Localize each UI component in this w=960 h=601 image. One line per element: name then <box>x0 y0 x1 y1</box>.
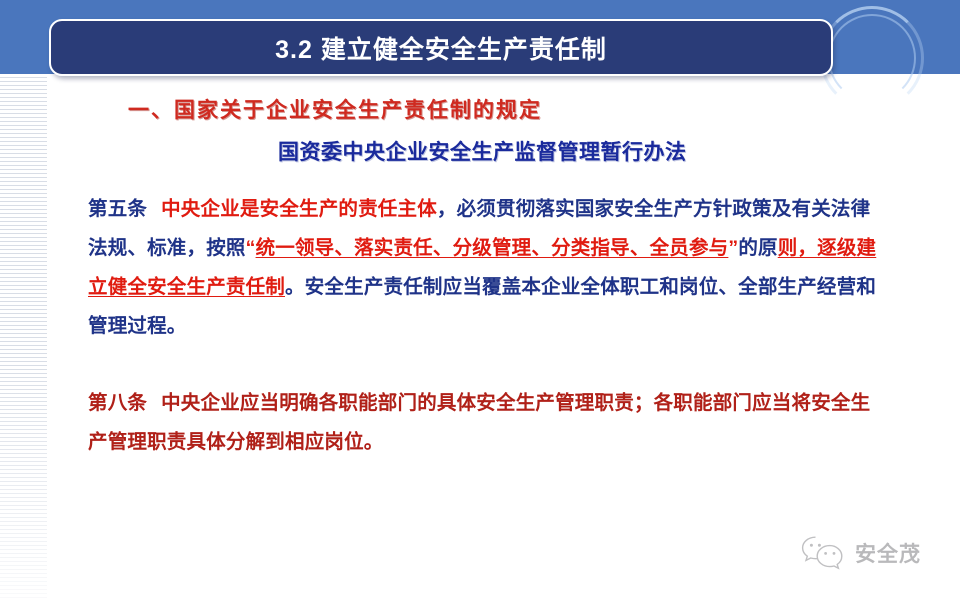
text-run: 统一领导、落实责任、分级管理、分类指导、全员参与 <box>256 237 729 259</box>
left-stripe-fade-overlay <box>0 74 47 601</box>
text-run: 第五条 <box>88 198 147 220</box>
watermark-label: 安全茂 <box>855 538 921 568</box>
presentation-slide: 3.2 建立健全安全生产责任制 一、国家关于企业安全生产责任制的规定 国资委中央… <box>0 0 960 601</box>
watermark: 安全茂 <box>800 534 921 572</box>
paragraph-article-5: 第五条中央企业是安全生产的责任主体，必须贯彻落实国家安全生产方针政策及有关法律法… <box>88 190 878 346</box>
arc-decoration-inner-icon <box>828 14 916 102</box>
section-heading-red: 一、国家关于企业安全生产责任制的规定 <box>128 94 542 124</box>
section-heading-blue: 国资委中央企业安全生产监督管理暂行办法 <box>278 136 687 166</box>
paragraph-article-8: 第八条中央企业应当明确各职能部门的具体安全生产管理职责；各职能部门应当将安全生产… <box>88 384 878 462</box>
text-run: 中央企业是安全生产的责任主体 <box>161 198 437 220</box>
text-run: “ <box>246 237 256 259</box>
text-run: 第八条 <box>88 392 147 414</box>
wechat-bubbles-icon <box>800 534 846 572</box>
text-run: 的原 <box>738 237 777 259</box>
slide-title-text: 3.2 建立健全安全生产责任制 <box>275 30 607 66</box>
text-run: 中央企业应当明确各职能部门的具体安全生产管理职责；各职能部门应当将安全生产管理职… <box>88 392 870 453</box>
slide-title-bar: 3.2 建立健全安全生产责任制 <box>49 19 833 76</box>
slide-body: 第五条中央企业是安全生产的责任主体，必须贯彻落实国家安全生产方针政策及有关法律法… <box>88 190 878 462</box>
text-run: ” <box>728 237 738 259</box>
